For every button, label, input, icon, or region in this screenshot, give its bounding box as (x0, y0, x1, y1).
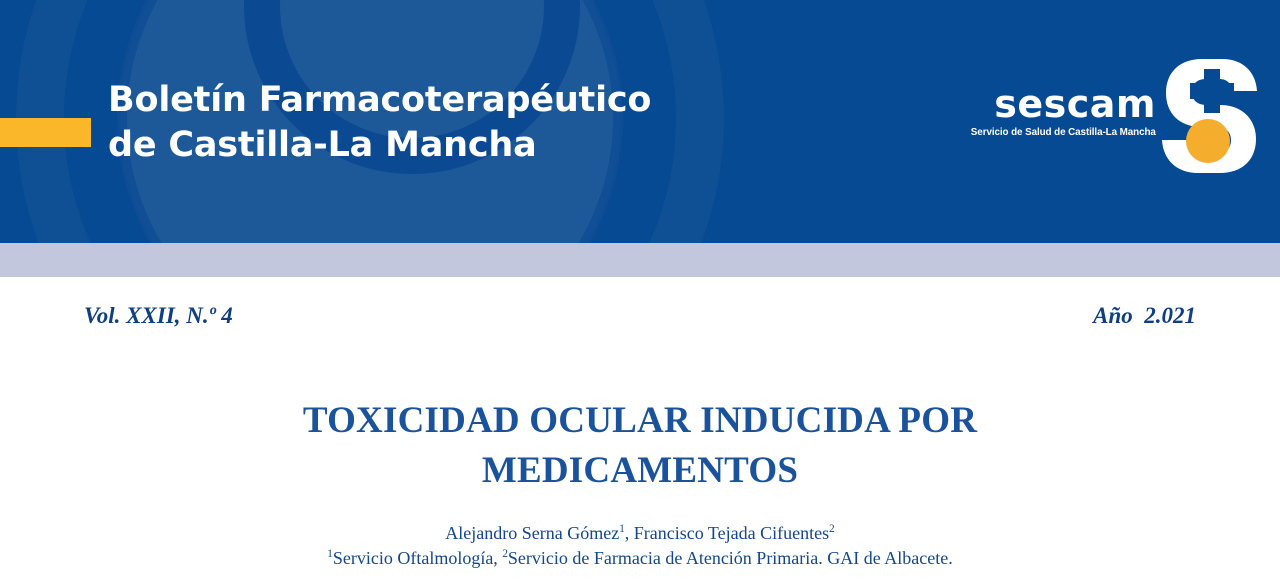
article-title: TOXICIDAD OCULAR INDUCIDA POR MEDICAMENT… (190, 396, 1090, 496)
author-two: , Francisco Tejada Cifuentes (625, 523, 829, 543)
document-body: Vol. XXII, N.º 4 Año 2.021 TOXICIDAD OCU… (0, 277, 1280, 587)
affiliation-one: Servicio Oftalmología, (333, 548, 502, 568)
accent-bar (0, 118, 91, 147)
article-byline: Alejandro Serna Gómez1, Francisco Tejada… (0, 521, 1280, 571)
masthead-banner: Boletín Farmacoterapéutico de Castilla-L… (0, 0, 1280, 243)
header-divider-band (0, 243, 1280, 277)
issue-line: Vol. XXII, N.º 4 Año 2.021 (84, 303, 1196, 329)
issue-year: Año 2.021 (1093, 303, 1196, 329)
article-affiliation: 1Servicio Oftalmología, 2Servicio de Far… (0, 546, 1280, 571)
author-one: Alejandro Serna Gómez (445, 523, 619, 543)
affiliation-two: Servicio de Farmacia de Atención Primari… (508, 548, 953, 568)
sescam-logo-text: sescam Servicio de Salud de Castilla-La … (959, 57, 1162, 139)
publication-title: Boletín Farmacoterapéutico de Castilla-L… (108, 78, 651, 168)
publication-title-line-1: Boletín Farmacoterapéutico (108, 80, 651, 120)
sescam-s-mark-icon (1162, 57, 1258, 175)
sescam-tagline: Servicio de Salud de Castilla-La Mancha (971, 125, 1156, 139)
sescam-wordmark: sescam (959, 85, 1156, 123)
article-title-line-1: TOXICIDAD OCULAR INDUCIDA POR (303, 400, 977, 441)
publication-title-line-2: de Castilla-La Mancha (108, 123, 651, 168)
issue-volume: Vol. XXII, N.º 4 (84, 303, 233, 329)
article-authors: Alejandro Serna Gómez1, Francisco Tejada… (445, 523, 834, 543)
article-title-line-2: MEDICAMENTOS (482, 450, 798, 491)
sescam-logo: sescam Servicio de Salud de Castilla-La … (959, 57, 1258, 175)
author-two-affiliation-marker: 2 (829, 523, 835, 535)
